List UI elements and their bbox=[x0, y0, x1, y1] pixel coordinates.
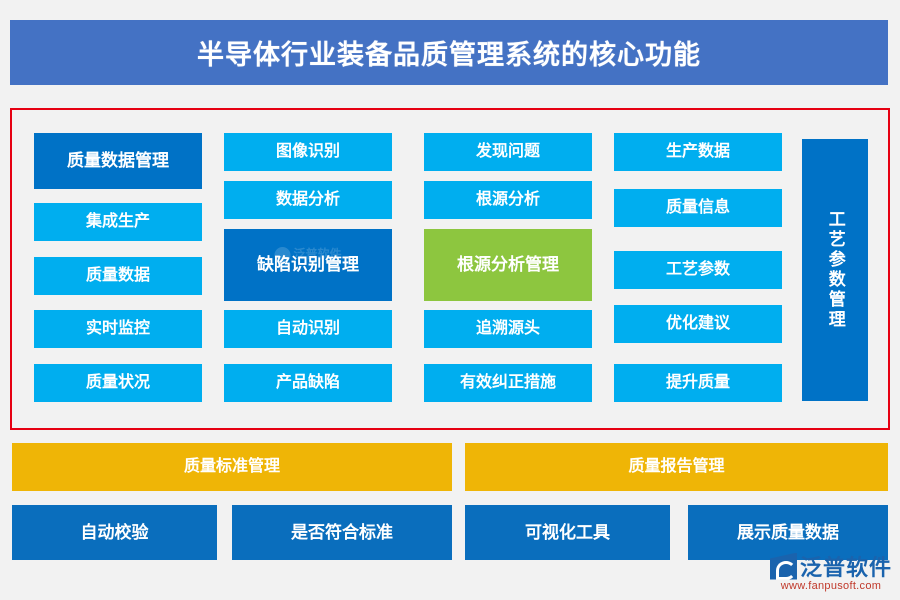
box-production-data[interactable]: 生产数据 bbox=[614, 133, 782, 171]
header-quality-report-management[interactable]: 质量报告管理 bbox=[465, 443, 888, 491]
box-label: 工艺参数 bbox=[666, 261, 730, 279]
box-display-quality-data[interactable]: 展示质量数据 bbox=[688, 505, 888, 560]
box-label: 自动识别 bbox=[276, 320, 340, 338]
box-label: 质量信息 bbox=[666, 199, 730, 217]
box-label: 发现问题 bbox=[476, 143, 540, 161]
box-realtime-monitoring[interactable]: 实时监控 bbox=[34, 310, 202, 348]
box-auto-recognition[interactable]: 自动识别 bbox=[224, 310, 392, 348]
core-functions-panel: 质量数据管理 集成生产 质量数据 实时监控 质量状况 图像识别 数据分析 泛普软… bbox=[10, 108, 890, 430]
box-label: 追溯源头 bbox=[476, 320, 540, 338]
box-process-parameters[interactable]: 工艺参数 bbox=[614, 251, 782, 289]
box-optimization-suggestion[interactable]: 优化建议 bbox=[614, 305, 782, 343]
box-label: 根源分析 bbox=[476, 191, 540, 209]
group-header-label: 质量报告管理 bbox=[628, 458, 724, 476]
box-label: 产品缺陷 bbox=[276, 374, 340, 392]
group-header-label: 质量标准管理 bbox=[184, 458, 280, 476]
box-process-parameter-management[interactable]: 工艺参数管理 bbox=[802, 139, 868, 401]
box-quality-data-management[interactable]: 质量数据管理 bbox=[34, 133, 202, 189]
box-label: 根源分析管理 bbox=[457, 255, 559, 275]
box-label: 实时监控 bbox=[86, 320, 150, 338]
brand-url: www.fanpusoft.com bbox=[781, 580, 881, 592]
box-label: 是否符合标准 bbox=[291, 523, 393, 543]
box-label: 优化建议 bbox=[666, 315, 730, 333]
box-label: 质量状况 bbox=[86, 374, 150, 392]
box-root-cause-analysis-management[interactable]: 根源分析管理 bbox=[424, 229, 592, 301]
box-label: 集成生产 bbox=[86, 213, 150, 231]
box-label: 质量数据 bbox=[86, 267, 150, 285]
box-quality-data[interactable]: 质量数据 bbox=[34, 257, 202, 295]
box-label: 有效纠正措施 bbox=[460, 374, 556, 392]
box-integrated-production[interactable]: 集成生产 bbox=[34, 203, 202, 241]
header-quality-standard-management[interactable]: 质量标准管理 bbox=[12, 443, 452, 491]
box-discover-problem[interactable]: 发现问题 bbox=[424, 133, 592, 171]
box-label: 数据分析 bbox=[276, 191, 340, 209]
box-image-recognition[interactable]: 图像识别 bbox=[224, 133, 392, 171]
box-label: 图像识别 bbox=[276, 143, 340, 161]
box-improve-quality[interactable]: 提升质量 bbox=[614, 364, 782, 402]
box-label: 质量数据管理 bbox=[67, 151, 169, 171]
box-product-defect[interactable]: 产品缺陷 bbox=[224, 364, 392, 402]
box-label: 缺陷识别管理 bbox=[257, 255, 359, 275]
box-root-cause-analysis[interactable]: 根源分析 bbox=[424, 181, 592, 219]
box-label: 工艺参数管理 bbox=[825, 210, 845, 330]
box-meets-standard[interactable]: 是否符合标准 bbox=[232, 505, 452, 560]
box-defect-identification-management[interactable]: 泛普软件 缺陷识别管理 bbox=[224, 229, 392, 301]
box-label: 展示质量数据 bbox=[737, 523, 839, 543]
page-title-banner: 半导体行业装备品质管理系统的核心功能 bbox=[10, 20, 888, 85]
box-quality-information[interactable]: 质量信息 bbox=[614, 189, 782, 227]
box-trace-source[interactable]: 追溯源头 bbox=[424, 310, 592, 348]
box-effective-corrective-action[interactable]: 有效纠正措施 bbox=[424, 364, 592, 402]
box-data-analysis[interactable]: 数据分析 bbox=[224, 181, 392, 219]
page-title: 半导体行业装备品质管理系统的核心功能 bbox=[197, 33, 701, 72]
diagram-canvas: 半导体行业装备品质管理系统的核心功能 质量数据管理 集成生产 质量数据 实时监控… bbox=[0, 0, 900, 600]
box-label: 自动校验 bbox=[81, 523, 149, 543]
box-quality-status[interactable]: 质量状况 bbox=[34, 364, 202, 402]
box-label: 提升质量 bbox=[666, 374, 730, 392]
box-auto-verification[interactable]: 自动校验 bbox=[12, 505, 217, 560]
box-label: 生产数据 bbox=[666, 143, 730, 161]
box-visualization-tool[interactable]: 可视化工具 bbox=[465, 505, 670, 560]
box-label: 可视化工具 bbox=[525, 523, 610, 543]
